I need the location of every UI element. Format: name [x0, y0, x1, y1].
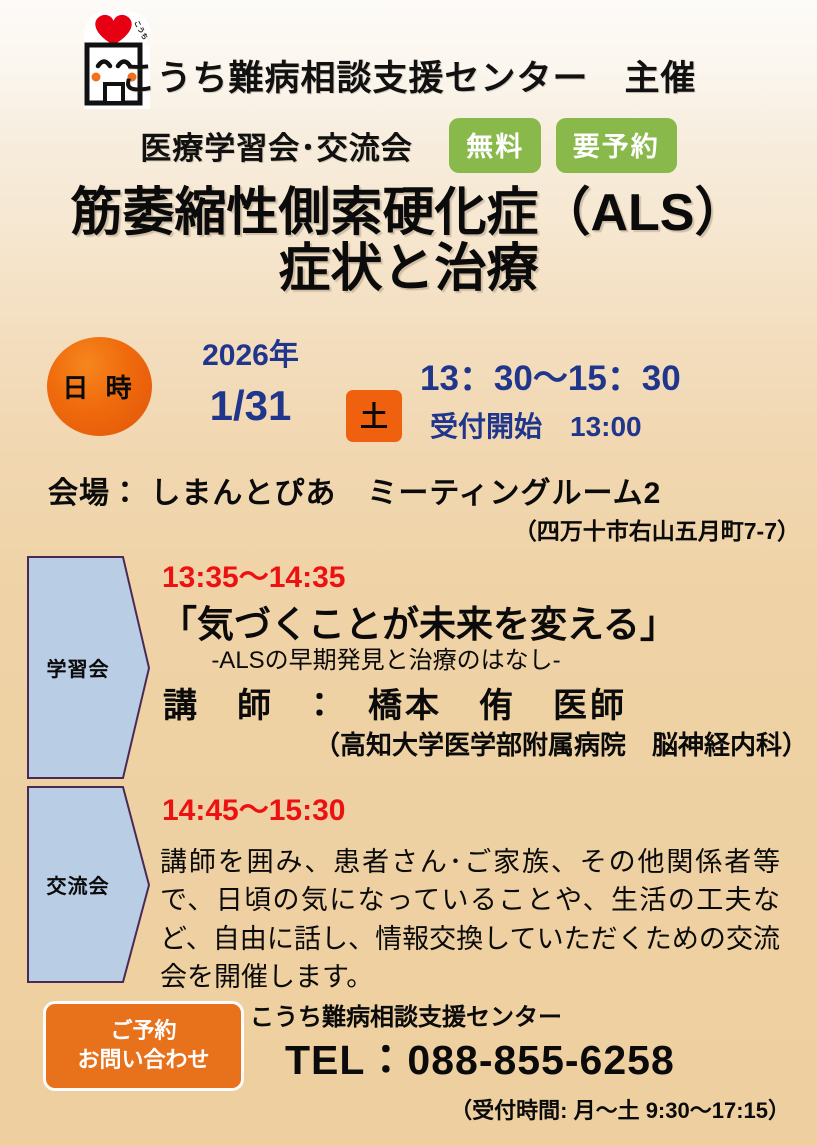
page-title: 筋萎縮性側索硬化症（ALS） 症状と治療: [0, 186, 817, 297]
session1-subtitle: -ALSの早期発見と治療のはなし-: [0, 640, 772, 675]
poster-root: こうち こうち難病相談支援センター 主催 医療学習会･交流会 無料 要予約 筋萎…: [0, 0, 817, 1146]
session2-tag-label: 交流会: [47, 870, 110, 899]
session1-time: 13:35〜14:35: [162, 552, 345, 596]
venue-address: （四万十市右山五月町7-7）: [0, 512, 800, 546]
organizer-title: こうち難病相談支援センター 主催: [120, 50, 696, 101]
datetime-year: 2026年: [168, 341, 333, 371]
badge-reservation-required: 要予約: [556, 118, 677, 173]
session2-tag-arrow: 交流会: [27, 786, 149, 982]
datetime-reception-time: 受付開始 13:00: [430, 405, 642, 445]
badge-free: 無料: [449, 118, 541, 173]
datetime-time-range: 13：30〜15：30: [420, 350, 681, 401]
page-title-line2: 症状と治療: [0, 242, 817, 298]
contact-telephone[interactable]: TEL：088-855-6258: [285, 1026, 675, 1086]
session2-description: 講師を囲み、患者さん･ご家族、その他関係者等で、日頃の気になっていることや、生活…: [160, 843, 780, 996]
session1-affiliation: （高知大学医学部附属病院 脳神経内科）: [0, 725, 808, 762]
reservation-contact-button[interactable]: ご予約 お問い合わせ: [43, 1001, 244, 1091]
header-event-row: 医療学習会･交流会 無料 要予約: [0, 118, 817, 173]
datetime-weekday-badge: 土: [346, 390, 402, 442]
contact-button-line1: ご予約: [110, 1017, 176, 1046]
datetime-label-badge: 日 時: [47, 337, 152, 436]
contact-business-hours: （受付時間: 月〜土 9:30〜17:15）: [0, 1093, 790, 1125]
page-title-line1: 筋萎縮性側索硬化症（ALS）: [70, 184, 746, 242]
session2-time: 14:45〜15:30: [162, 785, 345, 829]
datetime-day: 1/31: [168, 385, 333, 427]
contact-button-line2: お問い合わせ: [77, 1046, 209, 1075]
header-organizer-row: こうち難病相談支援センター 主催: [0, 50, 817, 101]
event-type-label: 医療学習会･交流会: [140, 123, 413, 168]
venue-line: 会場： しまんとぴあ ミーティングルーム2: [48, 468, 661, 512]
session1-lecturer: 講 師 ： 橋本 侑 医師: [0, 678, 790, 727]
